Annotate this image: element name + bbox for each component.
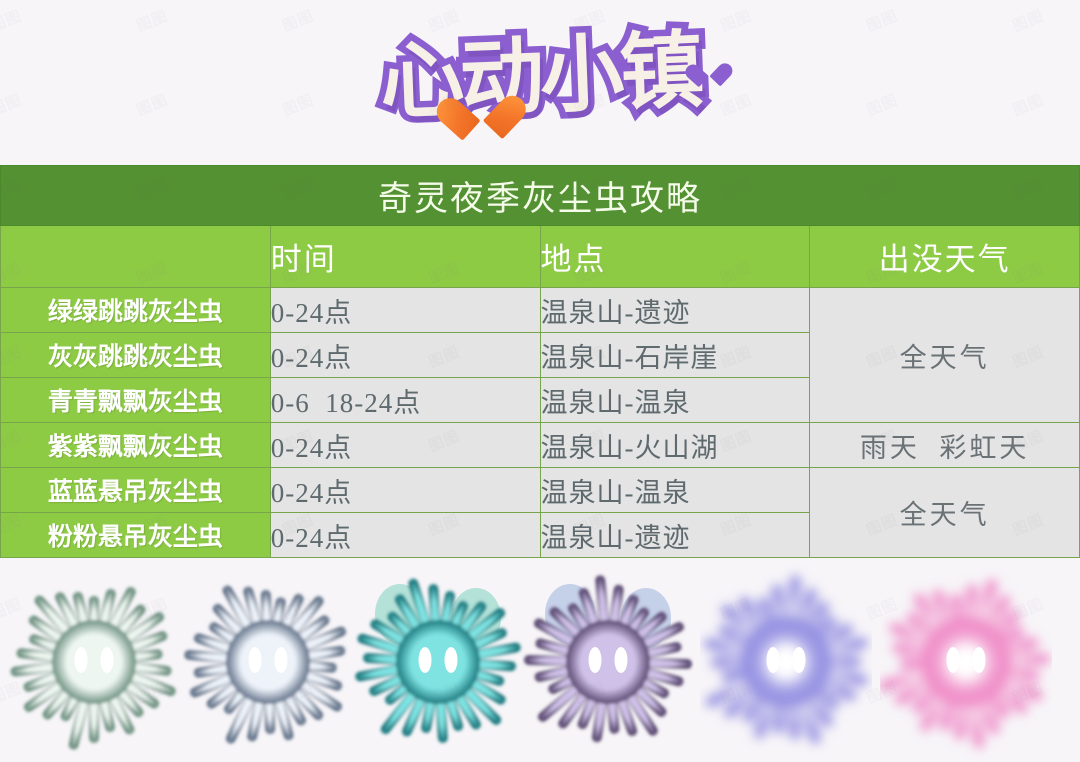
blue-dust-bug: [700, 562, 872, 762]
bug-weather: 全天气: [810, 468, 1080, 558]
column-header-name: [1, 226, 271, 288]
game-logo: 心动小镇: [0, 2, 1080, 150]
teal-dust-bug: [352, 562, 524, 762]
table-header-row: 时间 地点 出没天气: [1, 226, 1080, 288]
dust-bug-eye: [249, 647, 262, 673]
bug-name: 蓝蓝悬吊灰尘虫: [1, 468, 271, 513]
table-row: 蓝蓝悬吊灰尘虫 0-24点 温泉山-温泉 全天气: [1, 468, 1080, 513]
table-row: 绿绿跳跳灰尘虫 0-24点 温泉山-遗迹 全天气: [1, 288, 1080, 333]
dust-bug-guide-table: 奇灵夜季灰尘虫攻略 时间 地点 出没天气 绿绿跳跳灰尘虫 0-24点 温泉山-遗…: [0, 165, 1080, 558]
table-title-row: 奇灵夜季灰尘虫攻略: [1, 166, 1080, 226]
page-title: 奇灵夜季灰尘虫攻略: [1, 166, 1080, 226]
bug-name: 灰灰跳跳灰尘虫: [1, 333, 271, 378]
game-logo-text: 心动小镇: [372, 28, 707, 125]
dust-bug-illustration-strip: [0, 562, 1080, 762]
bug-time: 0-24点: [270, 288, 540, 333]
dust-bug-eye: [275, 647, 288, 673]
heart-dot-icon: [696, 59, 723, 84]
bug-weather: 全天气: [810, 288, 1080, 423]
column-header-weather: 出没天气: [810, 226, 1080, 288]
bug-name: 青青飘飘灰尘虫: [1, 378, 271, 423]
bug-place: 温泉山-火山湖: [540, 423, 810, 468]
dust-bug-eye: [589, 647, 602, 673]
gray-dust-bug: [182, 562, 354, 762]
bug-place: 温泉山-石岸崖: [540, 333, 810, 378]
bug-name: 粉粉悬吊灰尘虫: [1, 513, 271, 558]
bug-place: 温泉山-遗迹: [540, 513, 810, 558]
bug-time: 0-24点: [270, 423, 540, 468]
dust-bug-eye: [767, 647, 780, 673]
bug-name: 绿绿跳跳灰尘虫: [1, 288, 271, 333]
bug-weather: 雨天 彩虹天: [810, 423, 1080, 468]
dust-bug-eye: [101, 647, 114, 673]
green-dust-bug: [8, 562, 180, 762]
dust-bug-eye: [793, 647, 806, 673]
dust-bug-eye: [445, 647, 458, 673]
bug-time: 0-24点: [270, 333, 540, 378]
pink-dust-bug: [880, 562, 1052, 762]
bug-place: 温泉山-温泉: [540, 468, 810, 513]
bug-place: 温泉山-温泉: [540, 378, 810, 423]
dust-bug-eye: [615, 647, 628, 673]
column-header-time: 时间: [270, 226, 540, 288]
column-header-place: 地点: [540, 226, 810, 288]
table-row: 紫紫飘飘灰尘虫 0-24点 温泉山-火山湖 雨天 彩虹天: [1, 423, 1080, 468]
dust-bug-eye: [75, 647, 88, 673]
dust-bug-eye: [973, 647, 986, 673]
heart-icon: [456, 87, 506, 133]
dust-bug-eye: [947, 647, 960, 673]
bug-time: 0-6 18-24点: [270, 378, 540, 423]
purple-dust-bug: [522, 562, 694, 762]
bug-name: 紫紫飘飘灰尘虫: [1, 423, 271, 468]
dust-bug-eye: [419, 647, 432, 673]
bug-place: 温泉山-遗迹: [540, 288, 810, 333]
bug-time: 0-24点: [270, 513, 540, 558]
bug-time: 0-24点: [270, 468, 540, 513]
